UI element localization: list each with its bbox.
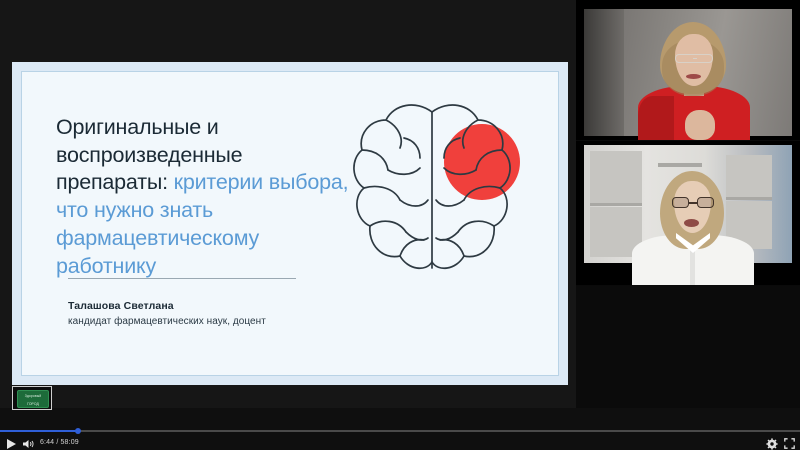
scrubber-thumbnail-preview: Здоровый ГОРОД (12, 386, 52, 410)
tile-2-mouth (684, 219, 699, 227)
participant-tile-2[interactable] (576, 141, 800, 285)
tile-2-glasses (672, 197, 714, 208)
tile-1-wall-shadow (584, 9, 624, 136)
brain-icon (342, 90, 557, 290)
participant-tile-empty (576, 286, 800, 408)
tile-1-hands (685, 110, 715, 140)
video-player: Оригинальные и воспроизведенные препарат… (0, 0, 800, 450)
presenter-name: Талашова Светлана (68, 300, 174, 312)
slide-inner-frame: Оригинальные и воспроизведенные препарат… (21, 71, 559, 376)
thumbnail-logo-line1: Здоровый (18, 394, 48, 399)
play-button[interactable] (6, 438, 18, 450)
shared-screen-slide: Оригинальные и воспроизведенные препарат… (0, 0, 576, 408)
progress-scrubber[interactable] (0, 430, 800, 432)
time-display: 6:44 / 58:09 (40, 439, 79, 450)
thumbnail-logo: Здоровый ГОРОД (17, 390, 49, 408)
tile-1-lips (686, 74, 701, 79)
title-divider (68, 278, 296, 279)
slide-title: Оригинальные и воспроизведенные препарат… (56, 114, 356, 280)
progress-knob[interactable] (75, 428, 81, 434)
tile-2-shelf-a (590, 151, 642, 205)
participant-tile-1[interactable] (576, 0, 800, 140)
presenter-role: кандидат фармацевтических наук, доцент (68, 316, 266, 327)
slide-card: Оригинальные и воспроизведенные препарат… (12, 62, 568, 385)
thumbnail-logo-line2: ГОРОД (18, 402, 48, 407)
participant-video-panel (576, 0, 800, 408)
tile-2-shelf-edge-b (726, 197, 772, 200)
fullscreen-icon[interactable] (784, 438, 795, 450)
progress-fill (0, 430, 78, 432)
tile-2-shelf-c (726, 155, 772, 199)
volume-icon[interactable] (22, 438, 35, 450)
tile-2-shelf-edge-a (590, 203, 642, 206)
tile-1-glasses (675, 54, 713, 63)
tile-2-shelf-edge-c (658, 163, 702, 167)
player-control-bar: Здоровый ГОРОД 6:44 / 58:09 (0, 408, 800, 450)
gear-icon[interactable] (766, 438, 778, 450)
tile-1-torso-shade (638, 96, 674, 140)
